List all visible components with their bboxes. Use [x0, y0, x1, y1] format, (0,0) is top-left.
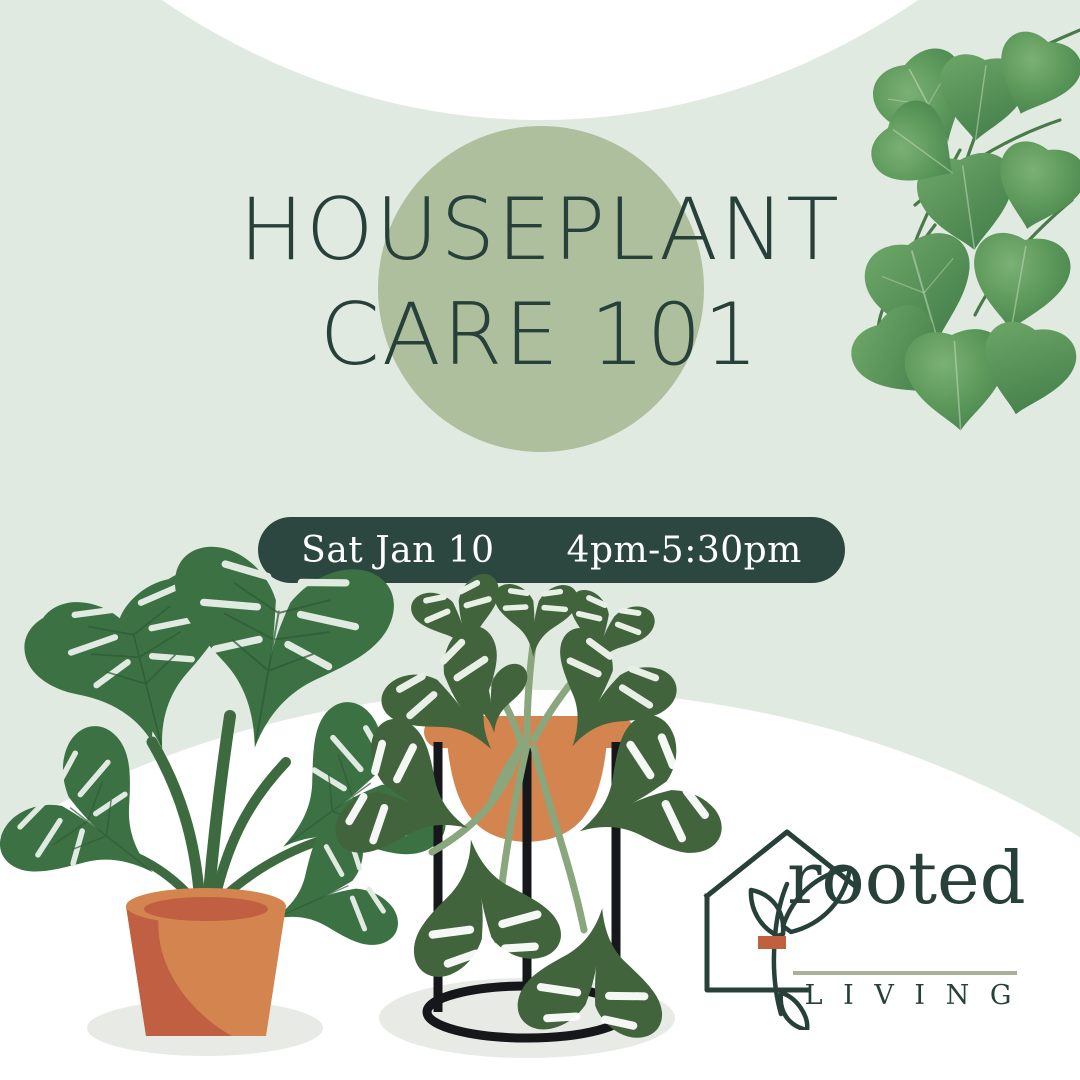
event-date: Sat Jan 10 [301, 530, 494, 571]
event-datetime-pill: Sat Jan 10 4pm-5:30pm [258, 517, 845, 583]
logo-tagline-text: L I V I N G [791, 980, 1031, 1011]
sprout-leaf-left-icon [751, 890, 783, 936]
poster-canvas: HOUSEPLANT CARE 101 Sat Jan 10 4pm-5:30p… [0, 0, 1080, 1080]
event-time: 4pm-5:30pm [567, 530, 802, 571]
title-line-2: CARE 101 [0, 283, 1080, 388]
accent-dash-icon [758, 936, 786, 949]
logo-brand-text: rooted [787, 842, 1037, 914]
brand-logo[interactable]: rooted L I V I N G [695, 818, 1035, 1030]
page-title: HOUSEPLANT CARE 101 [0, 178, 1080, 388]
title-line-1: HOUSEPLANT [0, 178, 1080, 283]
